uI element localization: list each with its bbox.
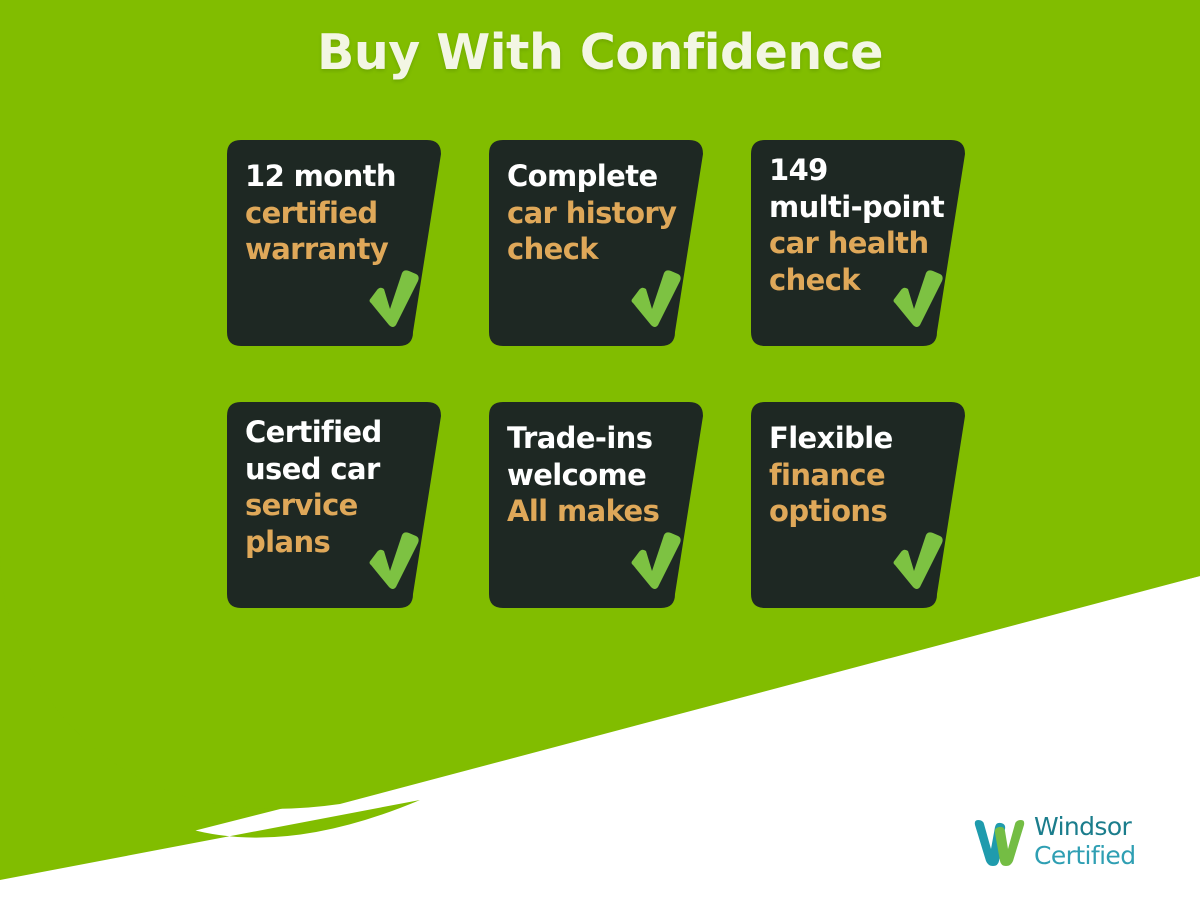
logo-wordmark: Windsor Certified xyxy=(1034,812,1164,872)
check-mark-icon xyxy=(892,532,944,590)
card-line: 12 month xyxy=(245,158,420,195)
card-certified-used-car-service-plans[interactable]: Certified used car service plans xyxy=(227,402,441,608)
card-line: car history xyxy=(507,195,682,232)
card-line: check xyxy=(507,231,682,268)
card-line: Certified xyxy=(245,414,420,451)
logo-line-certified: Certified xyxy=(1034,841,1164,870)
card-line: multi-point xyxy=(769,189,944,226)
card-line: finance xyxy=(769,457,944,494)
card-text-block: Trade-ins welcome All makes xyxy=(507,420,682,530)
feature-cards-grid: 12 month certified warranty Complete car… xyxy=(0,0,1200,900)
windsor-certified-logo[interactable]: Windsor Certified xyxy=(972,812,1162,874)
card-149-multi-point-car-health-check[interactable]: 149 multi-point car health check xyxy=(751,140,965,346)
card-line: warranty xyxy=(245,231,420,268)
card-line: used car xyxy=(245,451,420,488)
card-line: Trade-ins xyxy=(507,420,682,457)
slide-canvas: Buy With Confidence 12 month certified w… xyxy=(0,0,1200,900)
card-line: service xyxy=(245,487,420,524)
card-line: 149 xyxy=(769,152,944,189)
card-12-month-certified-warranty[interactable]: 12 month certified warranty xyxy=(227,140,441,346)
card-line: options xyxy=(769,493,944,530)
card-text-block: 12 month certified warranty xyxy=(245,158,420,268)
card-line: Complete xyxy=(507,158,682,195)
check-mark-icon xyxy=(630,532,682,590)
check-mark-icon xyxy=(368,532,420,590)
check-mark-icon xyxy=(892,270,944,328)
check-mark-icon xyxy=(630,270,682,328)
card-text-block: Flexible finance options xyxy=(769,420,944,530)
logo-line-windsor: Windsor xyxy=(1034,812,1164,841)
windsor-w-icon xyxy=(972,816,1028,868)
card-line: All makes xyxy=(507,493,682,530)
card-line: welcome xyxy=(507,457,682,494)
card-line: car health xyxy=(769,225,944,262)
card-trade-ins-welcome-all-makes[interactable]: Trade-ins welcome All makes xyxy=(489,402,703,608)
check-mark-icon xyxy=(368,270,420,328)
card-line: Flexible xyxy=(769,420,944,457)
card-flexible-finance-options[interactable]: Flexible finance options xyxy=(751,402,965,608)
card-line: certified xyxy=(245,195,420,232)
card-text-block: Complete car history check xyxy=(507,158,682,268)
card-complete-car-history-check[interactable]: Complete car history check xyxy=(489,140,703,346)
